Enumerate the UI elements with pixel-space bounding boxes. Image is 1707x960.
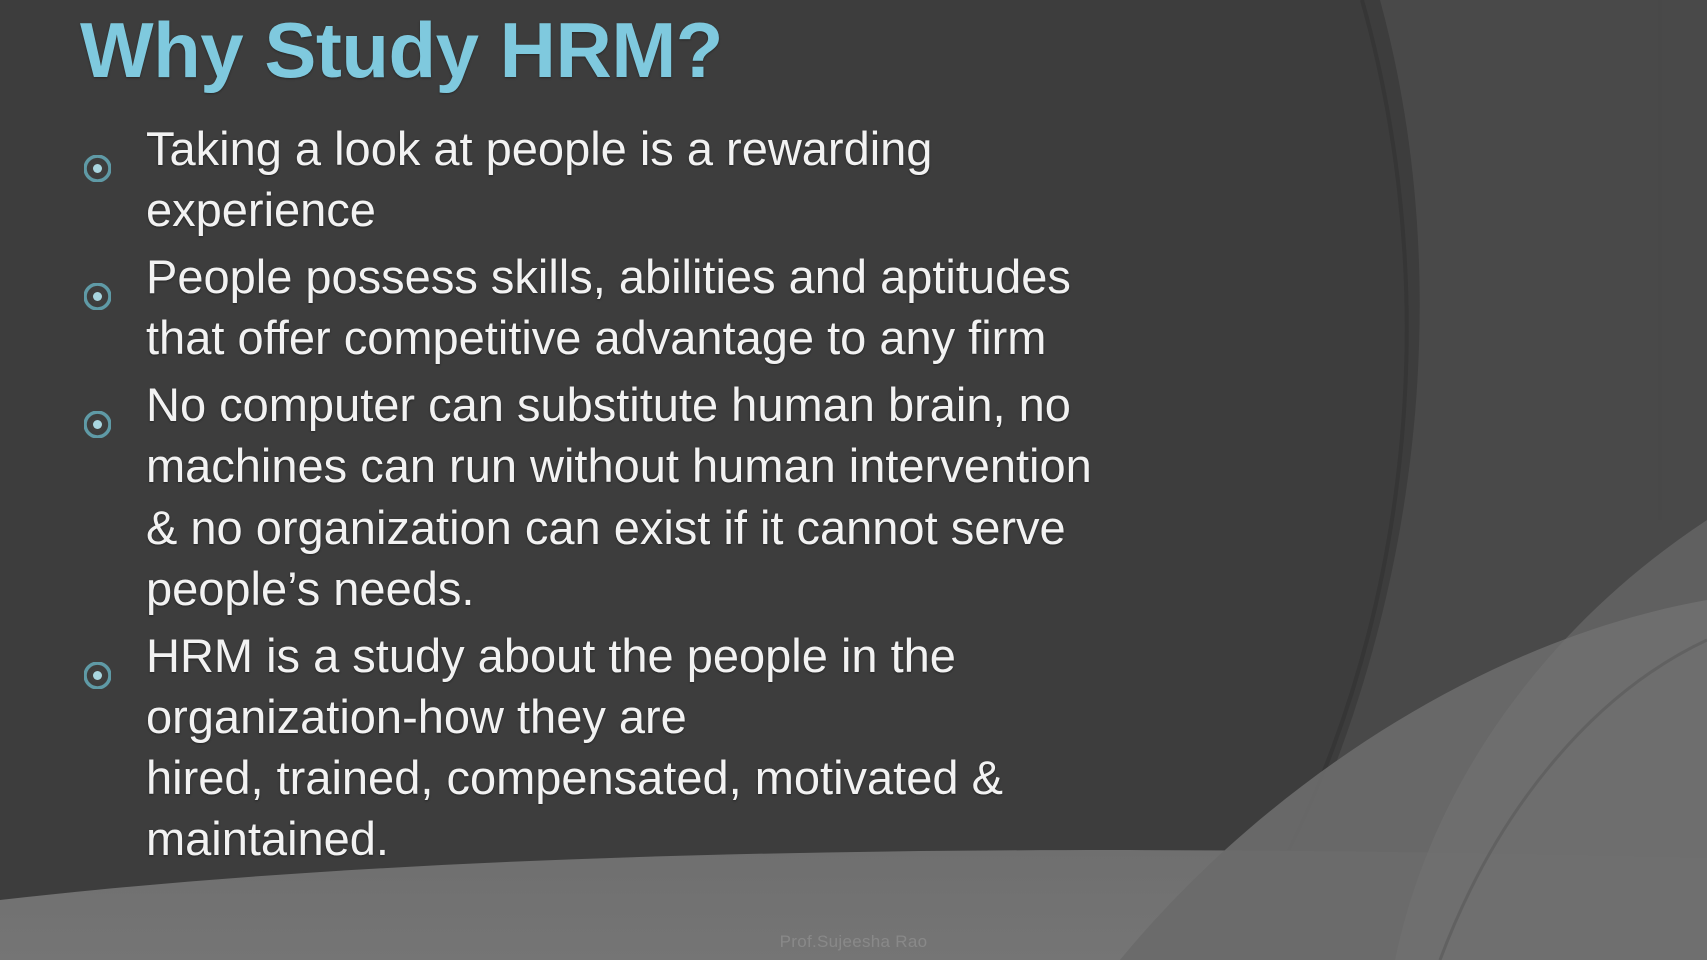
list-item: People possess skills, abilities and apt… [78, 246, 1647, 368]
list-item-label: Taking a look at people is a rewarding e… [146, 118, 1647, 240]
presentation-slide: Why Study HRM? Taking a look at people i… [0, 0, 1707, 960]
slide-content: Why Study HRM? Taking a look at people i… [0, 0, 1707, 960]
eye-bullet-icon [84, 391, 111, 418]
list-item-label: HRM is a study about the people in the o… [146, 625, 1647, 869]
eye-bullet-icon [84, 135, 111, 162]
list-item-label: No computer can substitute human brain, … [146, 374, 1647, 618]
list-item: No computer can substitute human brain, … [78, 374, 1647, 618]
bullet-list: Taking a look at people is a rewarding e… [78, 118, 1647, 875]
list-item-label: People possess skills, abilities and apt… [146, 246, 1647, 368]
footer-credit: Prof.Sujeesha Rao [0, 932, 1707, 952]
list-item: HRM is a study about the people in the o… [78, 625, 1647, 869]
page-title: Why Study HRM? [80, 8, 723, 92]
eye-bullet-icon [84, 642, 111, 669]
list-item: Taking a look at people is a rewarding e… [78, 118, 1647, 240]
eye-bullet-icon [84, 263, 111, 290]
